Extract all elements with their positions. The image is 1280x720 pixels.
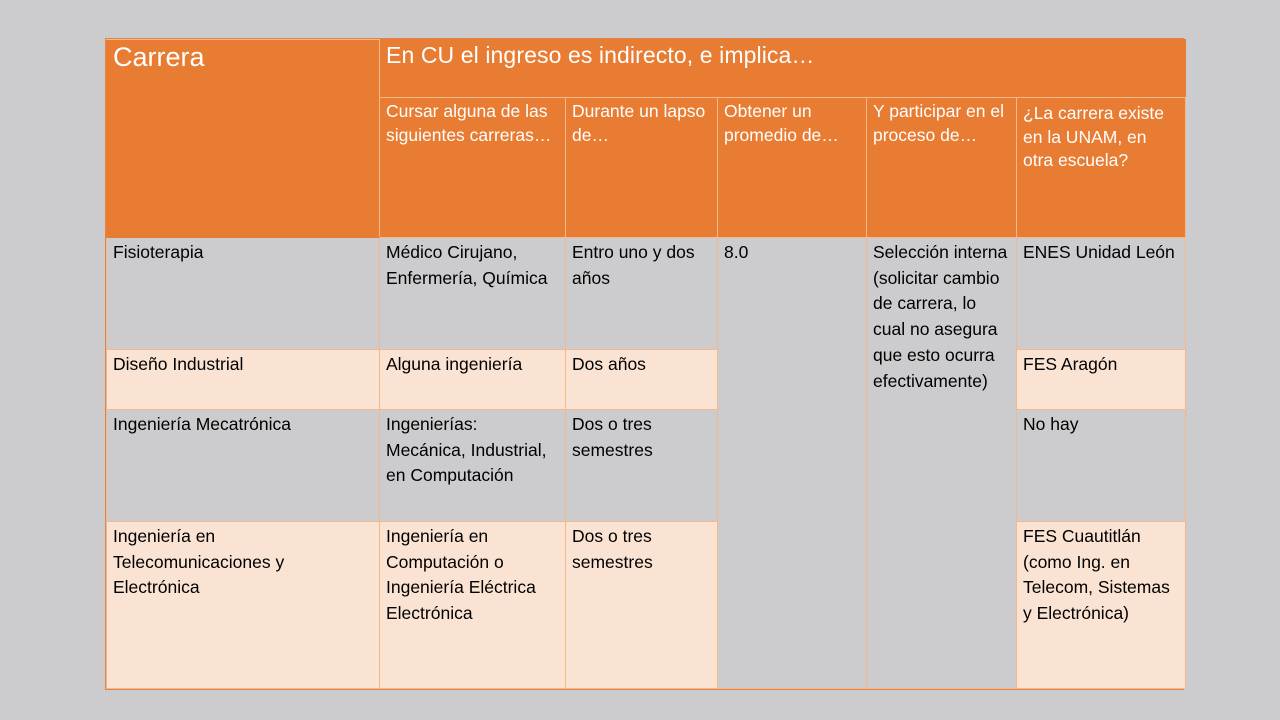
first-column-title: Carrera bbox=[107, 40, 380, 238]
cell-promedio: 8.0 bbox=[718, 238, 867, 689]
table-row: Diseño Industrial Alguna ingeniería Dos … bbox=[107, 350, 1186, 410]
column-header-lapso: Durante un lapso de… bbox=[566, 98, 718, 238]
comparison-table-container: Carrera En CU el ingreso es indirecto, e… bbox=[105, 38, 1184, 690]
column-header-proceso: Y participar en el proceso de… bbox=[867, 98, 1017, 238]
cell-carrera: Ingeniería Mecatrónica bbox=[107, 410, 380, 522]
table-row: Ingeniería Mecatrónica Ingenierías: Mecá… bbox=[107, 410, 1186, 522]
cell-carrera: Fisioterapia bbox=[107, 238, 380, 350]
column-header-promedio: Obtener un promedio de… bbox=[718, 98, 867, 238]
cell-lapso: Dos o tres semestres bbox=[566, 410, 718, 522]
cell-carrera: Diseño Industrial bbox=[107, 350, 380, 410]
banner-title: En CU el ingreso es indirecto, e implica… bbox=[380, 40, 1186, 98]
table-row: Fisioterapia Médico Cirujano, Enfermería… bbox=[107, 238, 1186, 350]
cell-carreras-previas: Ingenierías: Mecánica, Industrial, en Co… bbox=[380, 410, 566, 522]
column-header-otra-escuela: ¿La carrera existe en la UNAM, en otra e… bbox=[1017, 98, 1186, 238]
cell-lapso: Dos o tres semestres bbox=[566, 522, 718, 689]
cell-otra-escuela: FES Cuautitlán (como Ing. en Telecom, Si… bbox=[1017, 522, 1186, 689]
column-header-carreras-previas: Cursar alguna de las siguientes carreras… bbox=[380, 98, 566, 238]
comparison-table: Carrera En CU el ingreso es indirecto, e… bbox=[106, 39, 1186, 689]
cell-carreras-previas: Alguna ingeniería bbox=[380, 350, 566, 410]
cell-lapso: Dos años bbox=[566, 350, 718, 410]
cell-carrera: Ingeniería en Telecomunicaciones y Elect… bbox=[107, 522, 380, 689]
cell-otra-escuela: ENES Unidad León bbox=[1017, 238, 1186, 350]
cell-otra-escuela: FES Aragón bbox=[1017, 350, 1186, 410]
cell-carreras-previas: Médico Cirujano, Enfermería, Química bbox=[380, 238, 566, 350]
cell-proceso: Selección interna (solicitar cambio de c… bbox=[867, 238, 1017, 689]
cell-lapso: Entro uno y dos años bbox=[566, 238, 718, 350]
cell-otra-escuela: No hay bbox=[1017, 410, 1186, 522]
cell-carreras-previas: Ingeniería en Computación o Ingeniería E… bbox=[380, 522, 566, 689]
table-banner-row: Carrera En CU el ingreso es indirecto, e… bbox=[107, 40, 1186, 98]
slide-canvas: Carrera En CU el ingreso es indirecto, e… bbox=[0, 0, 1280, 720]
table-row: Ingeniería en Telecomunicaciones y Elect… bbox=[107, 522, 1186, 689]
